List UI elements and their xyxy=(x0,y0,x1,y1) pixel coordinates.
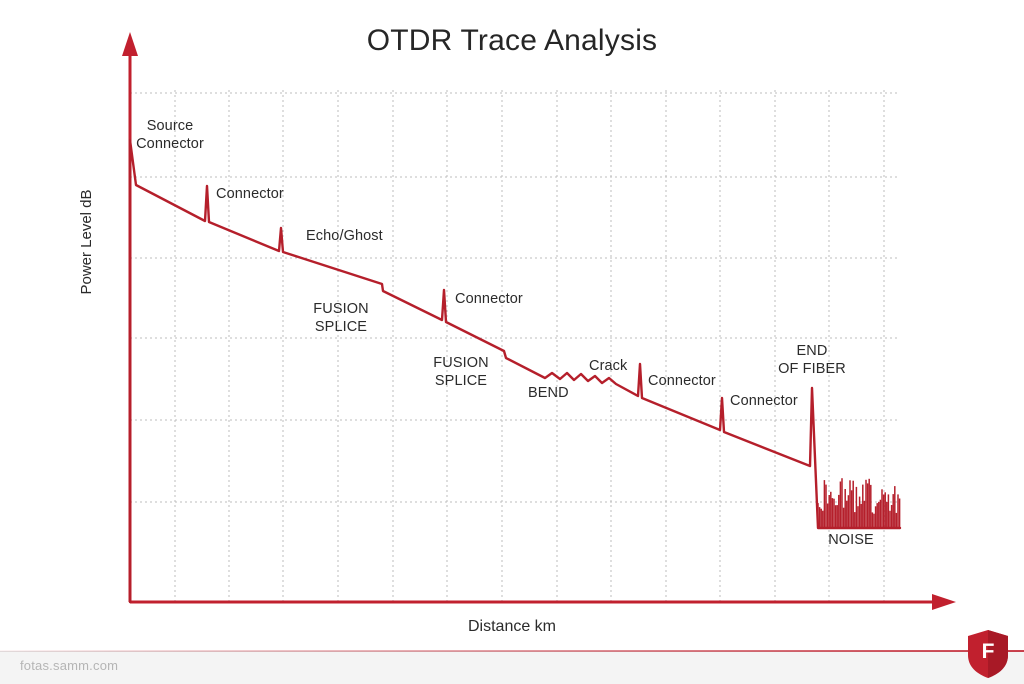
x-axis-arrow xyxy=(932,594,956,610)
annotation-line: BEND xyxy=(528,385,569,403)
footer-site-text: fotas.samm.com xyxy=(20,658,118,673)
annotation-line: Source xyxy=(136,118,204,136)
otdr-plot xyxy=(0,0,1024,684)
annotation-source-connector: SourceConnector xyxy=(136,118,204,153)
footer-band xyxy=(0,651,1024,684)
annotation-fusion-splice-1: FUSIONSPLICE xyxy=(313,301,368,336)
annotation-crack: Crack xyxy=(589,358,627,376)
annotation-line: Crack xyxy=(589,358,627,376)
x-axis-label: Distance km xyxy=(0,618,1024,636)
noise-floor-spikes xyxy=(818,478,900,528)
annotation-line: NOISE xyxy=(828,532,874,550)
annotation-line: FUSION xyxy=(313,301,368,319)
shield-logo: F xyxy=(966,629,1010,679)
annotation-end-of-fiber: ENDOF FIBER xyxy=(778,343,846,378)
annotation-line: OF FIBER xyxy=(778,361,846,379)
annotation-line: Connector xyxy=(136,136,204,154)
annotation-line: Connector xyxy=(730,393,798,411)
annotation-line: Connector xyxy=(216,186,284,204)
logo-letter: F xyxy=(966,629,1010,679)
annotation-line: Connector xyxy=(455,291,523,309)
annotation-line: Connector xyxy=(648,373,716,391)
annotation-line: SPLICE xyxy=(313,319,368,337)
annotation-echo-ghost: Echo/Ghost xyxy=(306,228,383,246)
otdr-chart-page: OTDR Trace Analysis SourceConnectorConne… xyxy=(0,0,1024,684)
annotation-connector-1: Connector xyxy=(216,186,284,204)
annotation-noise: NOISE xyxy=(828,532,874,550)
annotation-connector-3: Connector xyxy=(648,373,716,391)
annotation-line: Echo/Ghost xyxy=(306,228,383,246)
annotation-line: END xyxy=(778,343,846,361)
annotation-line: SPLICE xyxy=(433,373,488,391)
annotation-connector-2: Connector xyxy=(455,291,523,309)
annotation-bend: BEND xyxy=(528,385,569,403)
y-axis-arrow xyxy=(122,32,138,56)
y-axis-label: Power Level dB xyxy=(78,162,95,322)
annotation-connector-4: Connector xyxy=(730,393,798,411)
footer-rule xyxy=(0,650,1024,652)
annotation-line: FUSION xyxy=(433,355,488,373)
annotation-fusion-splice-2: FUSIONSPLICE xyxy=(433,355,488,390)
